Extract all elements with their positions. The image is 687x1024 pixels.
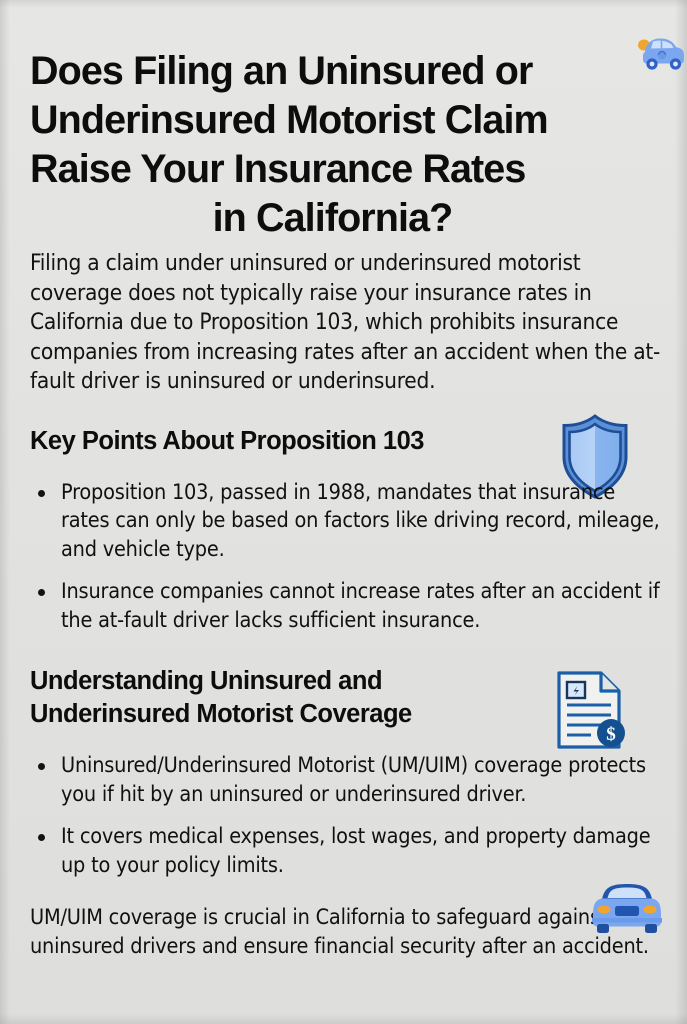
bullet-list-understanding-coverage: Uninsured/Underinsured Motorist (UM/UIM)… (30, 752, 663, 880)
list-item-text: It covers medical expenses, lost wages, … (61, 824, 650, 878)
closing-paragraph: UM/UIM coverage is crucial in California… (30, 904, 663, 961)
section-understanding-coverage: $ Understanding Uninsured and Underinsur… (30, 665, 663, 880)
car-front-icon (585, 878, 669, 936)
section-heading-understanding-coverage: Understanding Uninsured and Underinsured… (30, 665, 530, 731)
svg-text:$: $ (606, 724, 616, 745)
title-line-3: Raise Your Insurance Rates (30, 145, 663, 194)
list-item: It covers medical expenses, lost wages, … (30, 823, 663, 880)
title-line-1: Does Filing an Uninsured or (30, 47, 663, 96)
car-side-icon (631, 31, 687, 75)
list-item-text: Proposition 103, passed in 1988, mandate… (61, 480, 660, 562)
list-item: Proposition 103, passed in 1988, mandate… (30, 479, 663, 565)
bullet-dot-icon (38, 834, 45, 841)
infographic-poster: Does Filing an Uninsured or (0, 0, 687, 1024)
section-key-points: Key Points About Proposition 103 Proposi… (30, 425, 663, 636)
list-item-text: Insurance companies cannot increase rate… (61, 579, 660, 633)
poster-content: Does Filing an Uninsured or (0, 0, 687, 961)
title-line-4: in California? (30, 194, 663, 243)
title-line-2: Underinsured Motorist Claim (30, 96, 663, 145)
list-item-text: Uninsured/Underinsured Motorist (UM/UIM)… (61, 753, 646, 807)
list-item: Insurance companies cannot increase rate… (30, 578, 663, 635)
title-line-1-text: Does Filing an Uninsured or (30, 49, 532, 93)
bullet-dot-icon (38, 589, 45, 596)
bullet-list-key-points: Proposition 103, passed in 1988, mandate… (30, 479, 663, 636)
intro-paragraph: Filing a claim under uninsured or underi… (30, 249, 663, 397)
list-item: Uninsured/Underinsured Motorist (UM/UIM)… (30, 752, 663, 809)
section-heading-key-points: Key Points About Proposition 103 (30, 425, 530, 458)
paper-edge-bottom (0, 1014, 687, 1024)
document-dollar-icon: $ (551, 669, 627, 755)
bullet-dot-icon (38, 763, 45, 770)
page-title: Does Filing an Uninsured or (30, 0, 663, 243)
bullet-dot-icon (38, 490, 45, 497)
